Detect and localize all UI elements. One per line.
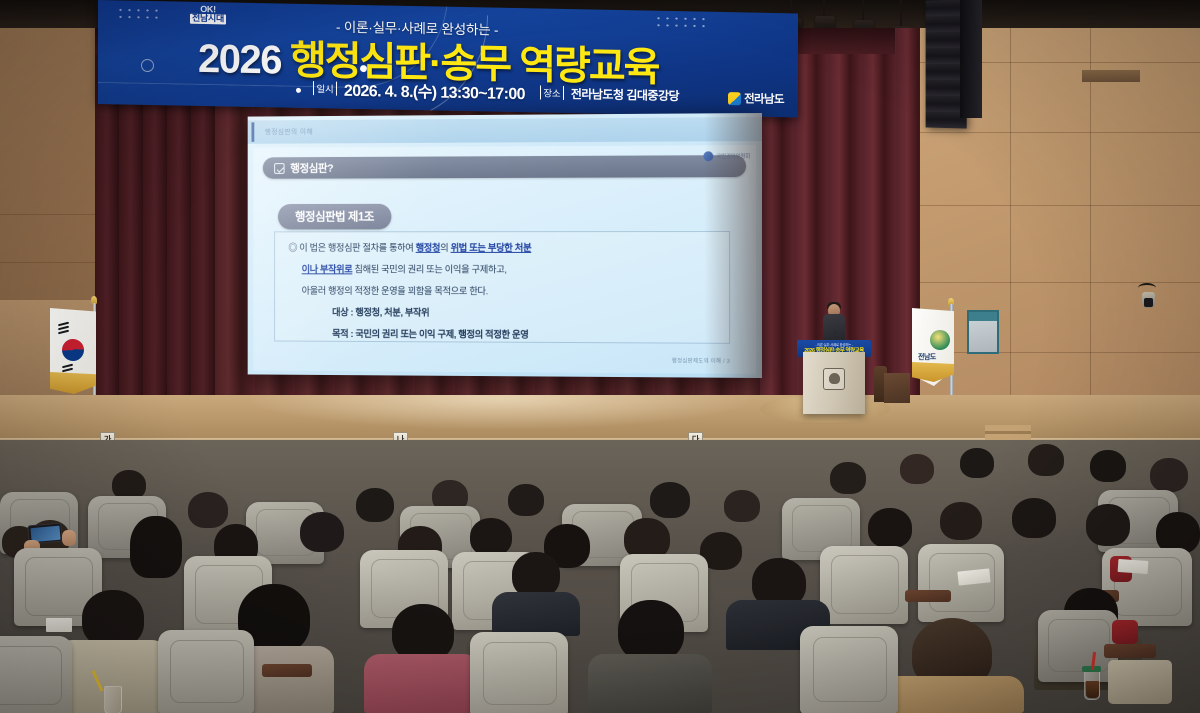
auditorium-seat[interactable] [158,630,254,713]
drink-liquid [1086,681,1099,698]
auditorium-seat[interactable] [0,636,72,713]
banner-dot-grid [116,6,162,21]
slide-line-1-b: 행정청 [416,243,440,254]
ok-slogan-bottom: 전남시대 [190,14,226,24]
checklist-icon [274,163,284,174]
slide-law-pill: 행정심판법 제1조 [278,204,391,230]
slide-line-2-b: 침해된 국민의 권리 또는 이익을 구제하고, [352,265,506,276]
slide-line-2: 이나 부작위로 침해된 국민의 권리 또는 이익을 구제하고, [288,265,715,277]
attendee-head [868,508,912,548]
notice-board-header [969,312,997,321]
line-array-speaker [960,0,982,118]
slide-line-1-a: ◎ 이 법은 행정심판 절차를 통하여 [288,243,415,254]
organization-logo-text: 국민권익위원회 [716,152,750,160]
projection-screen: 행정심판의 이해 행정심판? 행정심판법 제1조 ◎ 이 법은 행정심판 절차를… [248,113,762,378]
attendee-head [130,516,182,578]
attendee-head [508,484,544,516]
slide-header-bar: 행정심판? [263,155,746,179]
security-camera-icon [1142,292,1155,308]
banner-dot [296,88,301,93]
attendee-body [492,592,580,636]
province-emblem-icon [930,330,950,350]
jeonnam-logo-icon [728,92,741,105]
podium-emblem-icon [823,368,845,390]
slide-line-4: 대상 : 행정청, 처분, 부작위 [288,307,715,320]
slide-line-1-d: 위법 또는 부당한 처분 [451,243,532,254]
wall-recess [1082,70,1140,82]
banner-brand-text: 전라남도 [744,90,784,107]
wall-seam [880,205,1200,206]
attendee-head [618,600,684,662]
drink-cup[interactable] [1084,670,1100,700]
hand [62,530,76,546]
banner-date-label: 일시 [313,81,337,95]
attendee-head [830,462,866,494]
stage-table [884,373,910,403]
attendee-head [650,482,690,518]
province-flag-text: 전남도 [918,352,936,362]
seat-armrest [1104,644,1156,658]
attendee-head [724,490,760,522]
handout-paper[interactable] [1118,559,1149,574]
attendee-head [1090,450,1126,482]
attendee-body [588,654,712,713]
attendee-head [300,512,344,552]
slide-body: 행정심판? 행정심판법 제1조 ◎ 이 법은 행정심판 절차를 통하여 행정청의… [253,145,756,374]
attendee-head [470,518,512,556]
slide-line-2-a: 이나 부작위로 [302,265,353,276]
seat-armrest [262,664,312,677]
banner-place-label: 장소 [540,85,564,99]
banner-date-value: 2026. 4. 8.(수) 13:30~17:00 [344,77,525,104]
podium-lectern [803,352,865,414]
slide-line-3: 아울러 행정의 적정한 운영을 꾀함을 목적으로 한다. [288,286,715,299]
handout-paper[interactable] [46,618,72,632]
slide-line-1-c: 의 [440,243,450,254]
auditorium-seat[interactable] [470,632,568,713]
auditorium-seat[interactable] [800,626,898,713]
seat-red-accent [1112,620,1138,644]
banner-place-value: 전라남도청 김대중강당 [571,85,679,104]
banner-year: 2026 [198,37,281,84]
stage-light-pool [250,395,750,429]
slide-footer: 행정심판제도의 이해 / 3 [672,356,730,364]
wall-notice-board [967,310,999,354]
attendee-head [940,502,982,540]
audience-area [0,440,1200,713]
slide-line-1: ◎ 이 법은 행정심판 절차를 통하여 행정청의 위법 또는 부당한 처분 [288,243,715,255]
attendee-head [900,454,934,484]
auditorium-scene: OK! 전남시대 - 이론·실무·사례로 완성하는 - 2026 행정심판·송무… [0,0,1200,713]
attendee-head [356,488,394,522]
slide-section-tab: 행정심판의 이해 [248,117,762,144]
banner-dot-grid [654,15,710,30]
presentation-slide: 행정심판의 이해 행정심판? 행정심판법 제1조 ◎ 이 법은 행정심판 절차를… [248,113,762,378]
slide-law-pill-text: 행정심판법 제1조 [295,210,374,224]
slide-content-box: ◎ 이 법은 행정심판 절차를 통하여 행정청의 위법 또는 부당한 처분 이나… [274,231,730,344]
banner-ring [141,59,154,72]
handbag[interactable] [1108,660,1172,704]
slide-section-tab-label: 행정심판의 이해 [265,127,313,137]
attendee-body [876,676,1024,713]
banner-brand: 전라남도 [728,90,784,107]
auditorium-seat[interactable] [820,546,908,624]
acrc-logo-icon [703,151,713,161]
slide-line-5: 목적 : 국민의 권리 또는 이익 구제, 행정의 적정한 운영 [288,329,715,343]
attendee-body [364,654,480,713]
organization-logo: 국민권익위원회 [703,151,750,161]
drink-cup[interactable] [104,686,122,713]
attendee-head [1150,458,1188,492]
wall-seam [880,132,1200,133]
attendee-head [1028,444,1064,476]
slide-header-text: 행정심판? [290,160,333,176]
attendee-head [1012,498,1056,538]
seat-armrest [905,590,951,602]
attendee-head [1086,504,1130,546]
event-banner: OK! 전남시대 - 이론·실무·사례로 완성하는 - 2026 행정심판·송무… [98,0,798,117]
attendee-head [188,492,228,528]
attendee-head [960,448,994,478]
